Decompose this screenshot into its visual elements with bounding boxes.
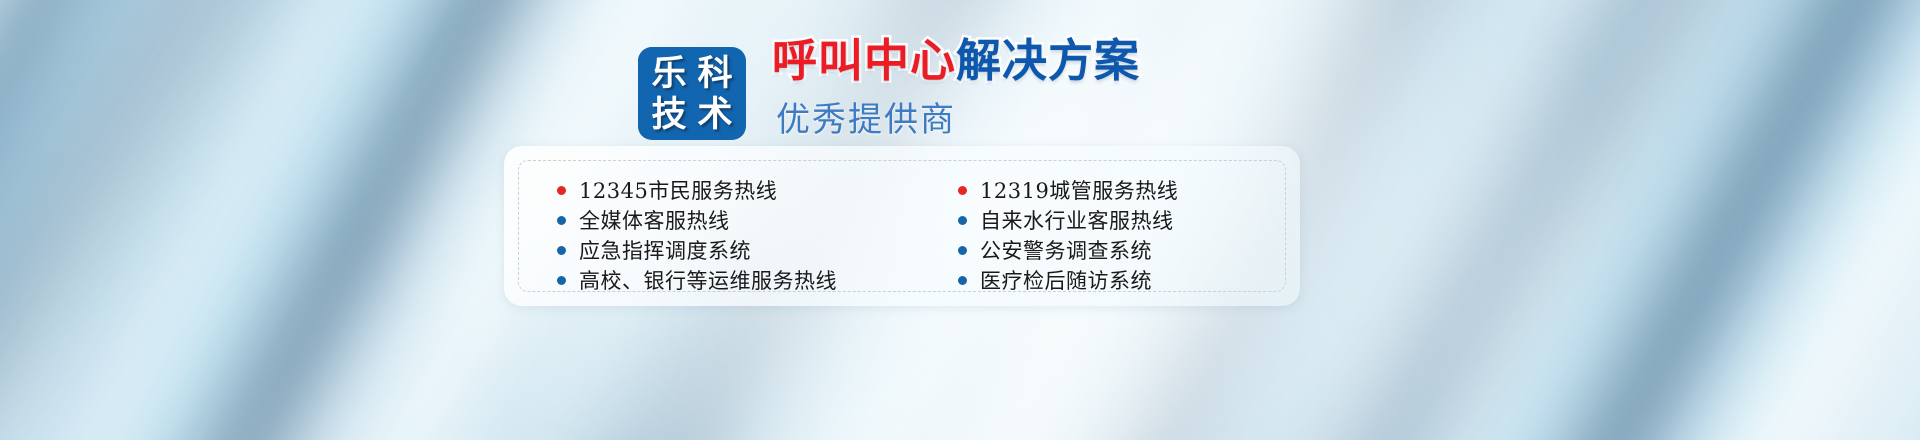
logo-char-ke: 科 xyxy=(698,57,733,92)
call-center-solution-banner: 乐 科 技 术 呼叫中心解决方案 优秀提供商 12345市民服务热线 xyxy=(0,0,1920,440)
list-item-label: 公安警务调查系统 xyxy=(980,235,1152,265)
banner-subheadline: 优秀提供商 xyxy=(776,92,956,141)
list-item[interactable]: 公安警务调查系统 xyxy=(958,235,1247,265)
banner-content: 乐 科 技 术 呼叫中心解决方案 优秀提供商 12345市民服务热线 xyxy=(0,0,1920,440)
list-item[interactable]: 应急指挥调度系统 xyxy=(557,235,902,265)
bullet-icon xyxy=(958,246,967,255)
list-item-label: 12319城管服务热线 xyxy=(980,175,1178,205)
list-item-label: 医疗检后随访系统 xyxy=(980,265,1152,295)
list-item-label: 12345市民服务热线 xyxy=(579,175,777,205)
bullet-icon xyxy=(958,186,967,195)
bullet-icon xyxy=(958,276,967,285)
bullet-icon xyxy=(557,186,566,195)
list-item-label: 高校、银行等运维服务热线 xyxy=(579,265,837,295)
headline-segment-call-center: 呼叫中心 xyxy=(772,34,956,87)
list-item[interactable]: 全媒体客服热线 xyxy=(557,205,902,235)
feature-column-left: 12345市民服务热线 全媒体客服热线 应急指挥调度系统 高校、银行等运维服务热… xyxy=(557,175,902,281)
logo-line-1: 乐 科 xyxy=(651,57,732,92)
logo-char-shu: 术 xyxy=(698,98,733,133)
list-item[interactable]: 高校、银行等运维服务热线 xyxy=(557,265,902,295)
list-item[interactable]: 医疗检后随访系统 xyxy=(958,265,1247,295)
list-item[interactable]: 12345市民服务热线 xyxy=(557,175,902,205)
bullet-icon xyxy=(557,276,566,285)
feature-list-panel: 12345市民服务热线 全媒体客服热线 应急指挥调度系统 高校、银行等运维服务热… xyxy=(504,146,1300,306)
company-logo-stamp[interactable]: 乐 科 技 术 xyxy=(638,47,746,140)
list-item[interactable]: 12319城管服务热线 xyxy=(958,175,1247,205)
bullet-icon xyxy=(557,246,566,255)
logo-char-le: 乐 xyxy=(651,57,686,92)
bullet-icon xyxy=(557,216,566,225)
logo-char-ji: 技 xyxy=(651,98,686,133)
list-item-label: 自来水行业客服热线 xyxy=(980,205,1174,235)
bullet-icon xyxy=(958,216,967,225)
logo-line-2: 技 术 xyxy=(651,98,732,133)
feature-list-dashed-frame: 12345市民服务热线 全媒体客服热线 应急指挥调度系统 高校、银行等运维服务热… xyxy=(518,160,1286,292)
banner-headline: 呼叫中心解决方案 xyxy=(772,38,1140,83)
list-item[interactable]: 自来水行业客服热线 xyxy=(958,205,1247,235)
headline-segment-solution: 解决方案 xyxy=(956,34,1140,87)
list-item-label: 全媒体客服热线 xyxy=(579,205,730,235)
feature-column-right: 12319城管服务热线 自来水行业客服热线 公安警务调查系统 医疗检后随访系统 xyxy=(902,175,1247,281)
list-item-label: 应急指挥调度系统 xyxy=(579,235,751,265)
